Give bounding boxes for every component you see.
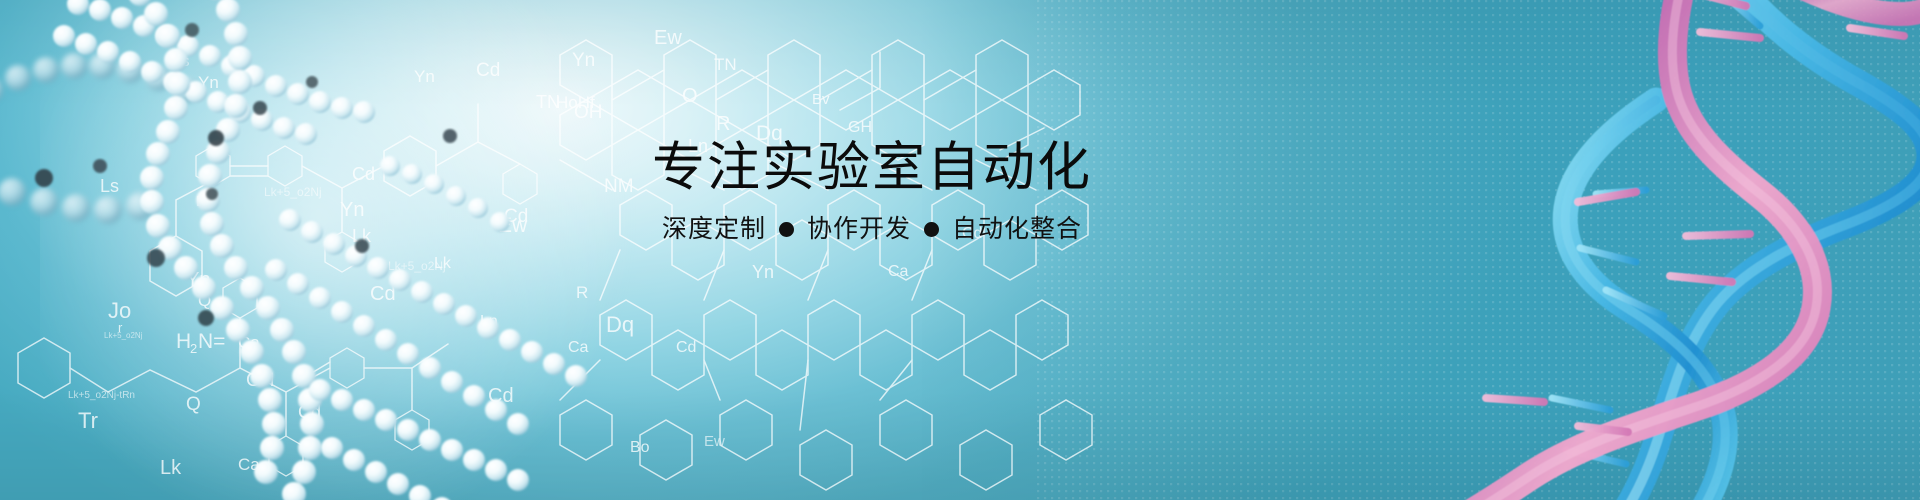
chem-label: Ca [888, 263, 909, 280]
subtitle-item-2: 协作开发 [807, 214, 911, 244]
hero-subtitle: 深度定制 协作开发 自动化整合 [612, 214, 1132, 244]
hero-copy: 专注实验室自动化 深度定制 协作开发 自动化整合 [612, 140, 1132, 244]
bullet-dot-icon [924, 222, 939, 237]
bullet-dot-icon [779, 222, 794, 237]
hero-banner: Tr Lk Lk+5_o2Nj-tRn Jo r Lk+5_o2Nj H 2 N… [0, 0, 1920, 500]
chem-label: Yn [752, 262, 774, 282]
chem-label: GH [848, 119, 872, 136]
subtitle-item-1: 深度定制 [662, 214, 766, 244]
chem-label: Bv [812, 91, 830, 108]
pearl-dna-graphic [0, 0, 740, 500]
page-title: 专注实验室自动化 [612, 140, 1132, 196]
subtitle-item-3: 自动化整合 [952, 214, 1082, 244]
dna-helix-graphic [1460, 0, 1920, 500]
